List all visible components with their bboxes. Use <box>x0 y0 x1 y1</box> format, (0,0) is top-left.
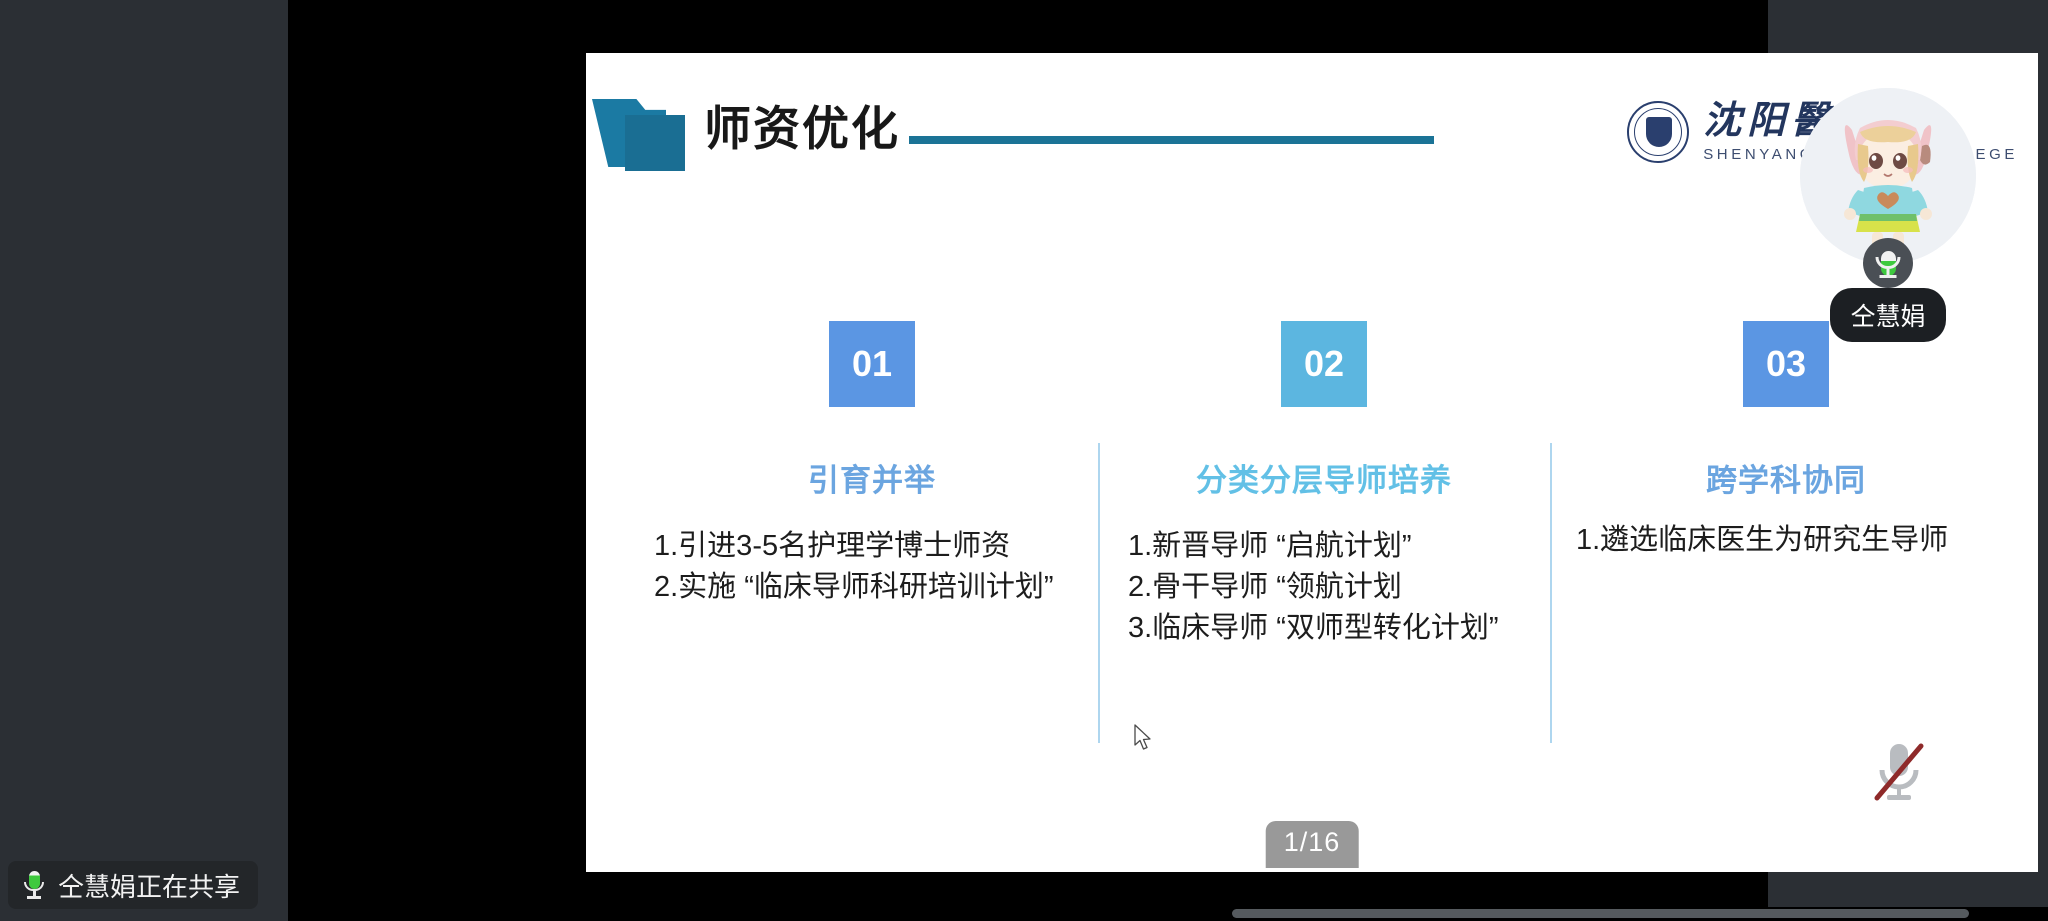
slide-column-1: 01 引育并举 1.引进3-5名护理学博士师资 2.实施 “临床导师科研培训计划… <box>662 321 1082 608</box>
column-divider <box>1550 443 1552 743</box>
column-number-badge: 01 <box>829 321 915 407</box>
column-item: 1.遴选临床医生为研究生导师 <box>1576 520 2006 561</box>
college-seal-icon <box>1627 101 1689 163</box>
column-heading: 分类分层导师培养 <box>1114 455 1534 500</box>
slide-column-2: 02 分类分层导师培养 1.新晋导师 “启航计划” 2.骨干导师 “领航计划 3… <box>1114 321 1534 650</box>
decorative-folder-icon <box>592 99 692 171</box>
mouse-cursor <box>1133 724 1153 752</box>
sharing-status-pill[interactable]: 仝慧娟正在共享 <box>8 861 258 909</box>
column-heading: 跨学科协同 <box>1566 455 2006 500</box>
participant-mic-indicator <box>1863 238 1913 288</box>
column-item: 1.引进3-5名护理学博士师资 <box>654 526 1082 567</box>
shared-screen-stage[interactable]: 师资优化 沈阳醫學院 SHENYANG MEDICAL COLLEGE 01 <box>288 0 1768 921</box>
column-divider <box>1098 443 1100 743</box>
slide-title: 师资优化 <box>704 105 900 152</box>
column-item: 3.临床导师 “双师型转化计划” <box>1128 608 1534 649</box>
column-body: 1.新晋导师 “启航计划” 2.骨干导师 “领航计划 3.临床导师 “双师型转化… <box>1128 526 1534 650</box>
participant-tile[interactable]: 仝慧娟 <box>1800 88 1976 342</box>
sharing-status-text: 仝慧娟正在共享 <box>58 867 240 904</box>
microphone-muted-icon[interactable] <box>1868 738 1930 808</box>
horizontal-scrollbar-track[interactable] <box>576 907 2048 921</box>
column-body: 1.引进3-5名护理学博士师资 2.实施 “临床导师科研培训计划” <box>654 526 1082 608</box>
column-body: 1.遴选临床医生为研究生导师 <box>1576 520 2006 561</box>
column-item: 1.新晋导师 “启航计划” <box>1128 526 1534 567</box>
meeting-window: 师资优化 沈阳醫學院 SHENYANG MEDICAL COLLEGE 01 <box>0 0 2048 921</box>
title-underline-rule <box>909 136 1434 144</box>
column-number-badge: 02 <box>1281 321 1367 407</box>
participant-name-label: 仝慧娟 <box>1830 288 1945 342</box>
microphone-active-icon <box>22 870 46 900</box>
column-item: 2.骨干导师 “领航计划 <box>1128 567 1534 608</box>
page-indicator: 1/16 <box>1266 821 1359 868</box>
slide-columns: 01 引育并举 1.引进3-5名护理学博士师资 2.实施 “临床导师科研培训计划… <box>586 321 2038 821</box>
column-item: 2.实施 “临床导师科研培训计划” <box>654 567 1082 608</box>
horizontal-scrollbar-thumb[interactable] <box>1232 909 1969 918</box>
column-heading: 引育并举 <box>662 455 1082 500</box>
slide-column-3: 03 跨学科协同 1.遴选临床医生为研究生导师 <box>1566 321 2006 561</box>
